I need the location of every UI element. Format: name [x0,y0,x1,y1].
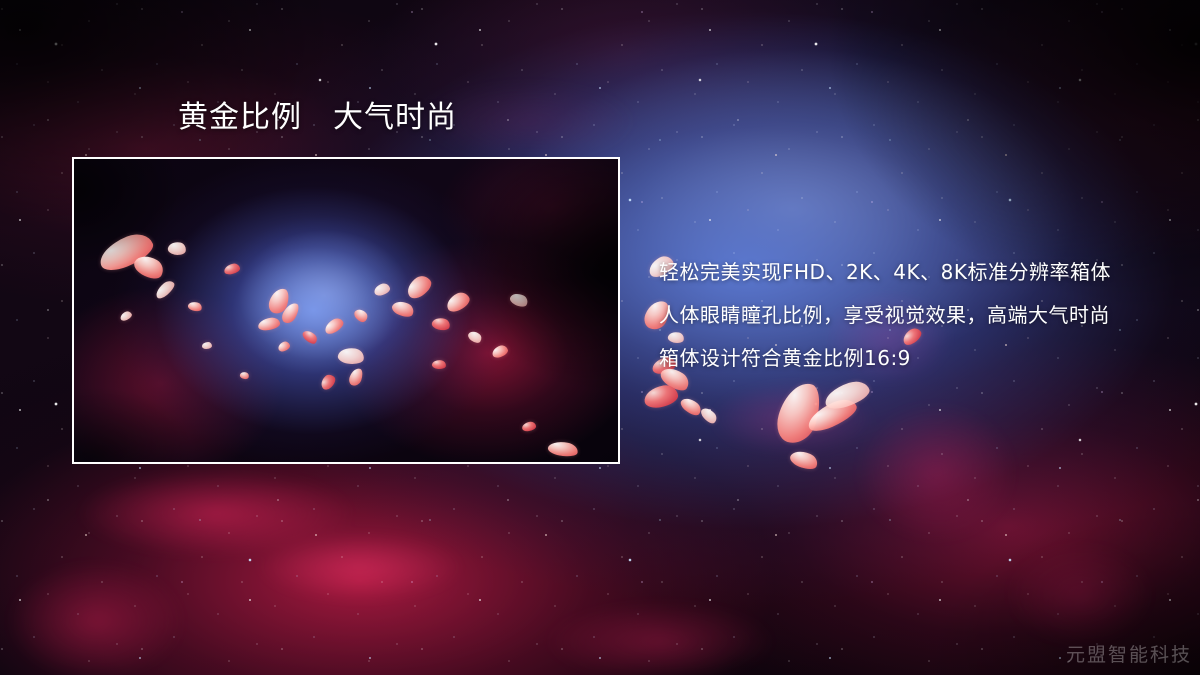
body-copy-line: 箱体设计符合黄金比例16:9 [659,344,1159,387]
body-copy-line: 人体眼睛瞳孔比例，享受视觉效果，高端大气时尚 [659,301,1159,344]
flower-petal [699,405,719,426]
body-copy: 轻松完美实现FHD、2K、4K、8K标准分辨率箱体人体眼睛瞳孔比例，享受视觉效果… [659,258,1159,387]
slide-canvas: 黄金比例 大气时尚 轻松完美实现FHD、2K、4K、8K标准分辨率箱体人体眼睛瞳… [0,0,1200,675]
flower-petal [642,383,679,410]
flower-petal [788,447,820,472]
watermark: 元盟智能科技 [1066,640,1192,667]
framed-image-vignette [74,159,618,462]
framed-image-16-9 [72,157,620,464]
body-copy-line: 轻松完美实现FHD、2K、4K、8K标准分辨率箱体 [659,258,1159,301]
flower-petal [678,395,703,419]
page-title: 黄金比例 大气时尚 [178,101,457,136]
